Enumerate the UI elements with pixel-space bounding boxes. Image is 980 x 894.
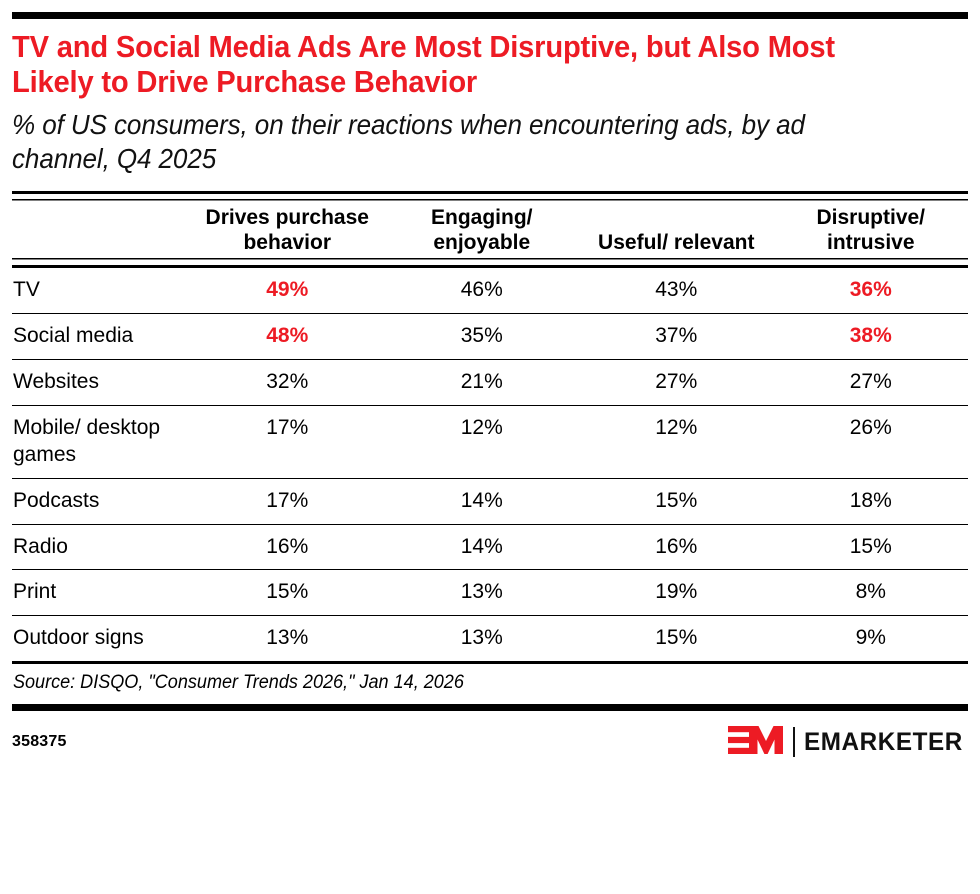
data-table: Drives purchase behavior Engaging/ enjoy… <box>12 191 968 664</box>
table-cell: 37% <box>579 314 774 360</box>
page-subtitle: % of US consumers, on their reactions wh… <box>12 108 901 177</box>
brand-lockup: EMARKETER <box>728 724 968 761</box>
column-header-useful-relevant: Useful/ relevant <box>579 192 774 266</box>
table-cell: 27% <box>774 360 969 406</box>
table-cell: 13% <box>385 616 580 663</box>
em-logo-icon <box>728 724 784 761</box>
top-rule-divider <box>12 12 968 19</box>
table-cell: 17% <box>190 478 385 524</box>
table-cell: 46% <box>385 267 580 314</box>
source-note: Source: DISQO, "Consumer Trends 2026," J… <box>12 664 920 704</box>
table-cell: 26% <box>774 405 969 478</box>
row-label: Podcasts <box>12 478 190 524</box>
table-cell: 16% <box>579 524 774 570</box>
table-cell: 13% <box>385 570 580 616</box>
row-label: Websites <box>12 360 190 406</box>
table-cell-highlighted: 49% <box>190 267 385 314</box>
table-cell: 13% <box>190 616 385 663</box>
table-cell: 15% <box>579 616 774 663</box>
row-label: Radio <box>12 524 190 570</box>
table-cell: 8% <box>774 570 969 616</box>
data-table-wrapper: Drives purchase behavior Engaging/ enjoy… <box>12 191 968 664</box>
table-row: TV49%46%43%36% <box>12 267 968 314</box>
table-cell: 18% <box>774 478 969 524</box>
column-header-drives-purchase-behavior: Drives purchase behavior <box>190 192 385 266</box>
bottom-rule-divider <box>12 704 968 711</box>
table-row: Social media48%35%37%38% <box>12 314 968 360</box>
table-cell: 16% <box>190 524 385 570</box>
row-label: Outdoor signs <box>12 616 190 663</box>
row-label: Social media <box>12 314 190 360</box>
table-cell: 12% <box>385 405 580 478</box>
column-header-disruptive-intrusive: Disruptive/ intrusive <box>774 192 969 266</box>
table-cell: 35% <box>385 314 580 360</box>
table-cell: 43% <box>579 267 774 314</box>
footer-bar: 358375 EMARKETER <box>12 724 968 761</box>
brand-wordmark: EMARKETER <box>804 728 963 757</box>
row-label: Mobile/ desktop games <box>12 405 190 478</box>
table-cell: 17% <box>190 405 385 478</box>
brand-divider <box>793 727 796 757</box>
table-row: Mobile/ desktop games17%12%12%26% <box>12 405 968 478</box>
row-label: TV <box>12 267 190 314</box>
table-cell-highlighted: 38% <box>774 314 969 360</box>
table-head: Drives purchase behavior Engaging/ enjoy… <box>12 192 968 266</box>
table-cell: 32% <box>190 360 385 406</box>
table-cell-highlighted: 36% <box>774 267 969 314</box>
chart-id-label: 358375 <box>12 733 67 751</box>
table-row: Podcasts17%14%15%18% <box>12 478 968 524</box>
column-header-engaging-enjoyable: Engaging/ enjoyable <box>385 192 580 266</box>
chart-page: TV and Social Media Ads Are Most Disrupt… <box>0 12 980 894</box>
table-row: Print15%13%19%8% <box>12 570 968 616</box>
table-row: Websites32%21%27%27% <box>12 360 968 406</box>
table-cell: 9% <box>774 616 969 663</box>
row-label: Print <box>12 570 190 616</box>
table-cell: 12% <box>579 405 774 478</box>
table-cell: 14% <box>385 478 580 524</box>
table-cell: 15% <box>774 524 969 570</box>
table-cell: 27% <box>579 360 774 406</box>
table-cell: 15% <box>190 570 385 616</box>
table-cell: 21% <box>385 360 580 406</box>
column-header-channel <box>12 192 190 266</box>
table-header-row: Drives purchase behavior Engaging/ enjoy… <box>12 192 968 266</box>
table-body: TV49%46%43%36%Social media48%35%37%38%We… <box>12 267 968 663</box>
table-cell-highlighted: 48% <box>190 314 385 360</box>
table-cell: 19% <box>579 570 774 616</box>
table-cell: 15% <box>579 478 774 524</box>
table-row: Radio16%14%16%15% <box>12 524 968 570</box>
page-title: TV and Social Media Ads Are Most Disrupt… <box>12 29 911 99</box>
table-cell: 14% <box>385 524 580 570</box>
table-row: Outdoor signs13%13%15%9% <box>12 616 968 663</box>
